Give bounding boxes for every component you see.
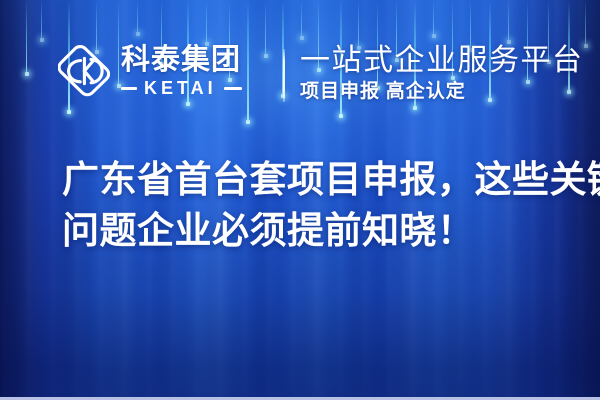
ketai-diamond-kt-monogram-icon bbox=[58, 45, 110, 97]
tagline-primary: 一站式企业服务平台 bbox=[300, 44, 584, 78]
light-streak bbox=[206, 0, 207, 44]
light-streak bbox=[433, 0, 434, 36]
light-streak bbox=[41, 0, 42, 40]
brand-logo: 科泰集团 KETAI bbox=[58, 44, 242, 98]
tagline-block: 一站式企业服务平台 项目申报 高企认定 bbox=[300, 44, 584, 104]
headline-line-2: 问题企业必须提前知晓！ bbox=[62, 205, 572, 256]
headline: 广东省首台套项目申报，这些关键 问题企业必须提前知晓！ bbox=[62, 154, 572, 256]
brand-name-en: KETAI bbox=[144, 78, 217, 98]
wordmark-dash-left-icon bbox=[121, 87, 137, 90]
light-streak bbox=[265, 0, 266, 56]
brand-wordmark: 科泰集团 KETAI bbox=[121, 44, 242, 98]
brand-name-cn: 科泰集团 bbox=[121, 44, 242, 76]
light-streak bbox=[137, 0, 138, 34]
light-streak bbox=[247, 0, 249, 122]
light-streak bbox=[470, 0, 471, 50]
light-streak bbox=[358, 0, 359, 48]
tagline-secondary: 项目申报 高企认定 bbox=[300, 80, 584, 104]
vertical-divider bbox=[283, 49, 285, 102]
brand-name-en-row: KETAI bbox=[121, 78, 242, 98]
light-streak bbox=[508, 0, 509, 42]
headline-line-1: 广东省首台套项目申报，这些关键 bbox=[62, 154, 572, 205]
light-streak bbox=[585, 0, 586, 46]
wordmark-dash-right-icon bbox=[224, 87, 242, 90]
light-streak bbox=[26, 0, 27, 74]
light-streak bbox=[301, 0, 302, 38]
promo-banner: 科泰集团 KETAI 一站式企业服务平台 项目申报 高企认定 广东省首台套项目申… bbox=[0, 0, 600, 400]
